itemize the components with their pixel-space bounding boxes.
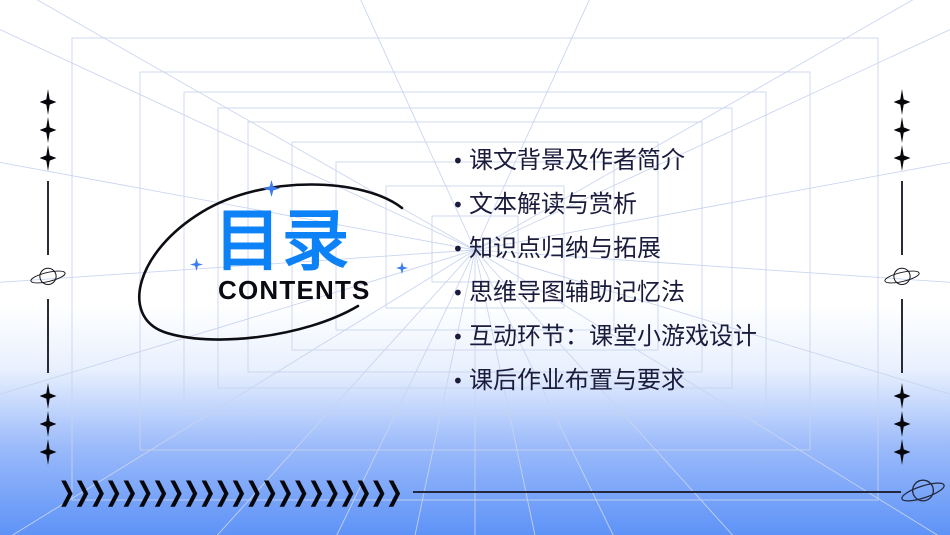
diamond-star-icon <box>894 383 911 409</box>
diamond-star-icon <box>894 89 911 115</box>
table-of-contents-list: • 课文背景及作者简介 • 文本解读与赏析 • 知识点归纳与拓展 • 思维导图辅… <box>452 143 872 407</box>
list-item[interactable]: • 文本解读与赏析 <box>452 187 872 222</box>
diamond-star-icon <box>40 117 57 143</box>
diamond-star-icon <box>40 89 57 115</box>
slide-canvas: 目录 CONTENTS • 课文背景及作者简介 • 文本解读与赏析 • 知识点归… <box>0 0 950 535</box>
diamond-star-icon <box>40 145 57 171</box>
list-item[interactable]: • 知识点归纳与拓展 <box>452 231 872 266</box>
bullet-icon: • <box>452 188 465 222</box>
diamond-star-icon <box>40 439 57 465</box>
left-side-ornament <box>26 88 70 466</box>
page-title-cn: 目录 <box>214 206 350 276</box>
list-item-label: 知识点归纳与拓展 <box>469 231 661 265</box>
diamond-star-icon <box>40 411 57 437</box>
bullet-icon: • <box>452 232 465 266</box>
list-item-label: 互动环节：课堂小游戏设计 <box>469 319 757 353</box>
list-item-label: 课文背景及作者简介 <box>469 143 685 177</box>
diamond-star-icon <box>894 117 911 143</box>
list-item[interactable]: • 思维导图辅助记忆法 <box>452 275 872 310</box>
chevron-arrow-row-icon: ❯❯❯❯❯❯❯❯❯❯❯❯❯❯❯❯❯❯❯❯❯❯ <box>58 479 401 505</box>
saturn-planet-icon <box>897 475 949 509</box>
list-item[interactable]: • 课后作业布置与要求 <box>452 363 872 398</box>
list-item[interactable]: • 课文背景及作者简介 <box>452 143 872 178</box>
horizontal-rule <box>413 491 901 493</box>
bullet-icon: • <box>452 276 465 310</box>
bottom-ornament: ❯❯❯❯❯❯❯❯❯❯❯❯❯❯❯❯❯❯❯❯❯❯ <box>0 470 950 514</box>
saturn-planet-icon <box>882 264 922 290</box>
vertical-rule <box>901 181 903 255</box>
list-item[interactable]: • 互动环节：课堂小游戏设计 <box>452 319 872 354</box>
list-item-label: 课后作业布置与要求 <box>469 363 685 397</box>
diamond-star-icon <box>894 411 911 437</box>
list-item-label: 思维导图辅助记忆法 <box>469 275 685 309</box>
vertical-rule <box>47 181 49 255</box>
list-item-label: 文本解读与赏析 <box>469 187 637 221</box>
vertical-rule <box>47 299 49 373</box>
bullet-icon: • <box>452 320 465 354</box>
vertical-rule <box>901 299 903 373</box>
saturn-planet-icon <box>28 264 68 290</box>
page-title-en: CONTENTS <box>218 276 371 304</box>
diamond-star-icon <box>894 145 911 171</box>
diamond-star-icon <box>40 383 57 409</box>
bullet-icon: • <box>452 144 465 178</box>
bullet-icon: • <box>452 364 465 398</box>
title-block: 目录 CONTENTS <box>152 188 422 318</box>
diamond-star-icon <box>894 439 911 465</box>
right-side-ornament <box>880 88 924 466</box>
